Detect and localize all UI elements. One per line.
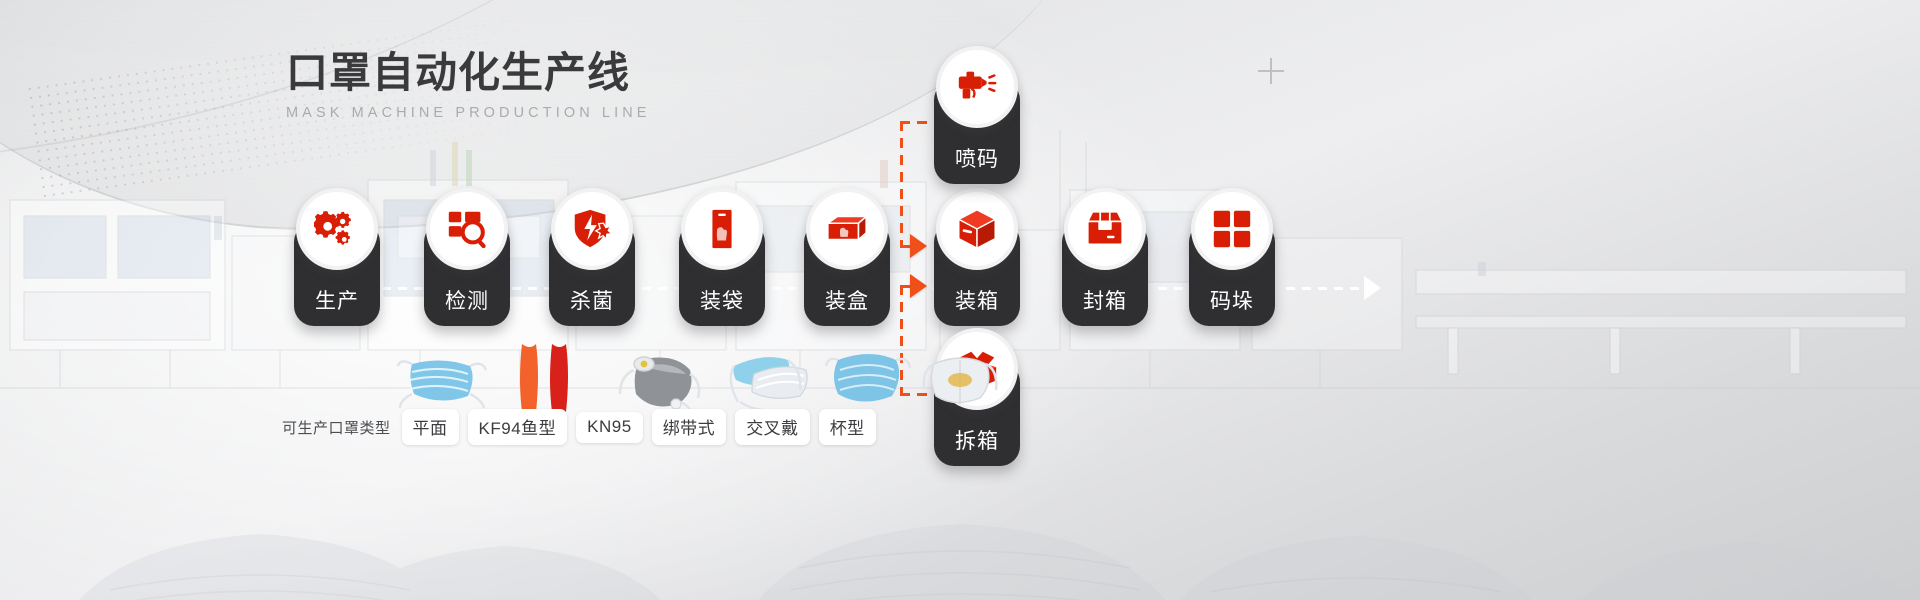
page-subtitle: MASK MACHINE PRODUCTION LINE: [286, 105, 651, 121]
mask-types-label: 可生产口罩类型: [282, 417, 391, 438]
mask-image-tie-on: [724, 344, 816, 416]
flow-node-label: 封箱: [1083, 285, 1127, 326]
flow-node-label: 装袋: [700, 285, 744, 326]
flow-node-label: 喷码: [955, 143, 999, 184]
flow-node-production[interactable]: 生产: [294, 188, 380, 326]
flow-node-sealing-badge[interactable]: 封箱: [1062, 222, 1148, 326]
flow-node-bagging-badge[interactable]: 装袋: [679, 222, 765, 326]
mask-types-row: 可生产口罩类型 平面 KF94鱼型 KN95 绑带式 交叉戴 杯型: [282, 409, 876, 445]
flow-node-palletizing[interactable]: 码垛: [1189, 188, 1275, 326]
flow-node-label: 生产: [315, 285, 359, 326]
flow-node-label: 装盒: [825, 285, 869, 326]
background-plus-mark: [1258, 58, 1284, 84]
flow-node-palletizing-badge[interactable]: 码垛: [1189, 222, 1275, 326]
bag-packing-icon: [681, 188, 763, 270]
closed-carton-icon: [936, 188, 1018, 270]
flow-node-label: 杀菌: [570, 285, 614, 326]
mask-image-flat: [396, 346, 488, 416]
flow-node-cartoning-badge[interactable]: 装箱: [934, 222, 1020, 326]
mask-type-tag-cup[interactable]: 杯型: [819, 409, 876, 445]
page-title: 口罩自动化生产线: [286, 48, 651, 98]
magnifier-inspection-icon: [426, 188, 508, 270]
flow-node-cartoning[interactable]: 装箱: [934, 188, 1020, 326]
flow-node-boxing[interactable]: 装盒: [804, 188, 890, 326]
flow-node-label: 拆箱: [955, 425, 999, 466]
flow-node-label: 装箱: [955, 285, 999, 326]
mask-image-cross-wear: [824, 342, 912, 416]
flow-node-boxing-badge[interactable]: 装盒: [804, 222, 890, 326]
mask-type-tag-cross-wear[interactable]: 交叉戴: [735, 409, 810, 445]
flow-node-inspection-badge[interactable]: 检测: [424, 222, 510, 326]
flow-node-bagging[interactable]: 装袋: [679, 188, 765, 326]
arrow-unpacking-to-cartoning: [910, 274, 927, 298]
mask-image-kf94: [508, 340, 588, 416]
flow-node-inkjet-coding[interactable]: 喷码: [934, 46, 1020, 184]
mask-image-cup-type: [920, 344, 1004, 416]
box-carton-icon: [806, 188, 888, 270]
flow-node-label: 检测: [445, 285, 489, 326]
mask-image-kn95: [612, 348, 708, 416]
banner-stage: 口罩自动化生产线 MASK MACHINE PRODUCTION LINE: [0, 0, 1920, 600]
flow-node-label: 码垛: [1210, 285, 1254, 326]
flow-node-sealing[interactable]: 封箱: [1062, 188, 1148, 326]
branch-line-inkjet-vertical: [900, 121, 903, 246]
flow-node-inkjet-coding-badge[interactable]: 喷码: [934, 80, 1020, 184]
gears-icon: [296, 188, 378, 270]
arrow-inkjet-to-cartoning: [910, 234, 927, 258]
flow-node-sterilize-badge[interactable]: 杀菌: [549, 222, 635, 326]
flow-node-production-badge[interactable]: 生产: [294, 222, 380, 326]
arrow-sealing-to-palletizing: [1364, 276, 1381, 300]
mask-gallery: [396, 338, 816, 416]
banner-heading: 口罩自动化生产线 MASK MACHINE PRODUCTION LINE: [286, 48, 651, 121]
palletizing-squares-icon: [1191, 188, 1273, 270]
flow-node-sterilize[interactable]: 杀菌: [549, 188, 635, 326]
sealed-carton-icon: [1064, 188, 1146, 270]
flow-node-inspection[interactable]: 检测: [424, 188, 510, 326]
mask-type-tag-kf94[interactable]: KF94鱼型: [468, 409, 568, 445]
mask-type-tag-flat[interactable]: 平面: [402, 409, 459, 445]
inkjet-spray-gun-icon: [936, 46, 1018, 128]
mask-type-tag-tie-on[interactable]: 绑带式: [652, 409, 727, 445]
mask-type-tag-kn95[interactable]: KN95: [576, 412, 643, 443]
shield-sterilize-icon: [551, 188, 633, 270]
connector-sealing-to-palletizing: [1286, 287, 1364, 290]
